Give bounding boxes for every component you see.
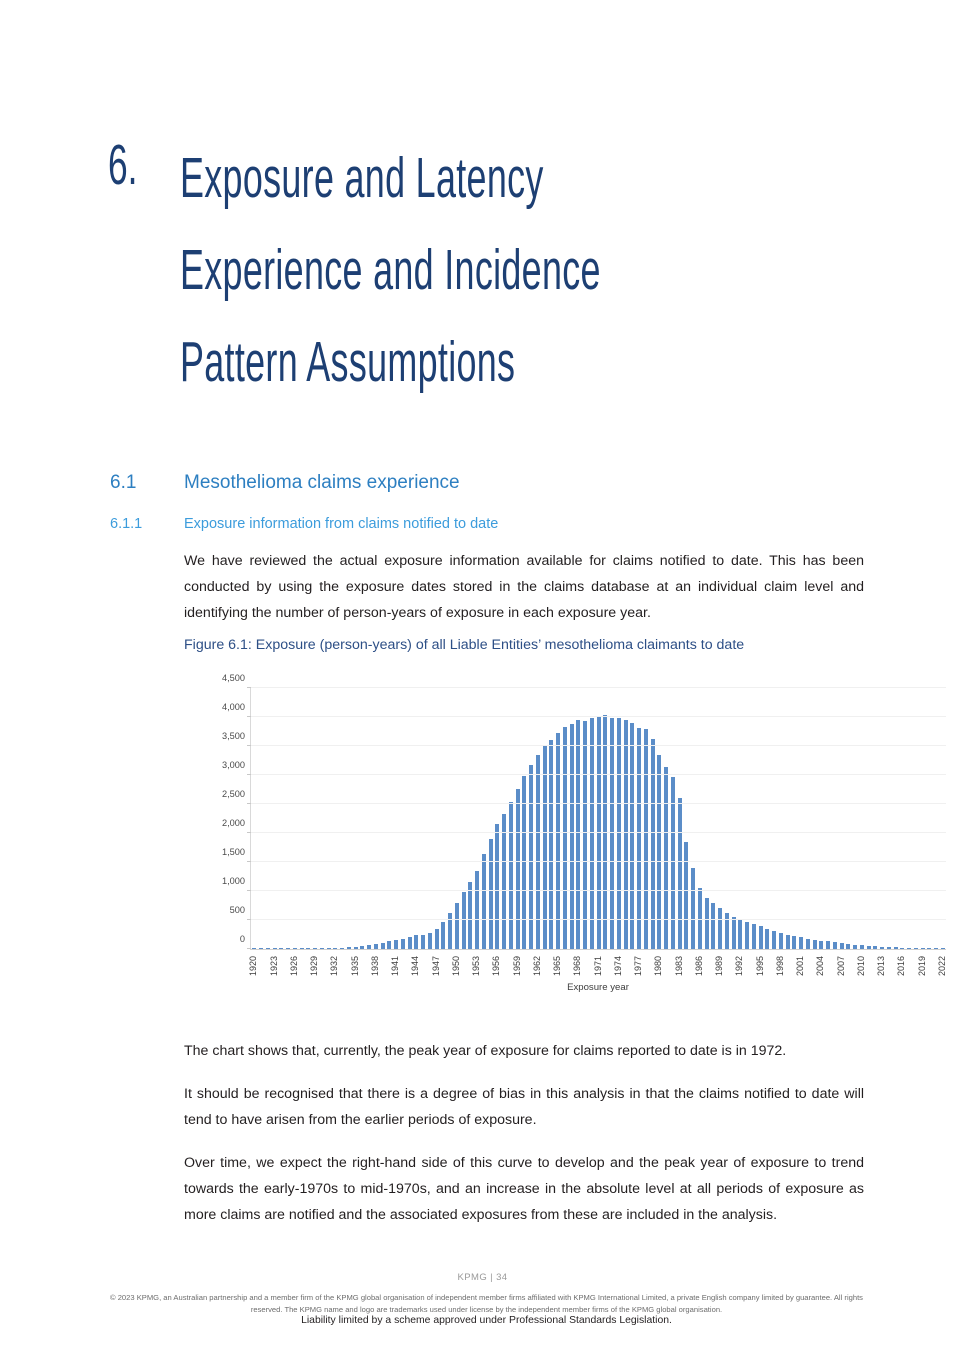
chart-y-tick-label: 2,000 — [222, 818, 245, 828]
chart-bar — [529, 765, 533, 949]
chart-bar-cell — [541, 688, 548, 949]
chart-bar-cell — [292, 688, 299, 949]
chart-y-tick-label: 0 — [240, 934, 245, 944]
chart-bar-cell — [778, 688, 785, 949]
chart-y-tick-label: 3,500 — [222, 731, 245, 741]
chart-bar-cell — [427, 688, 434, 949]
chart-bar-cell — [663, 688, 670, 949]
chart-bar-cell — [865, 688, 872, 949]
chart-bar-cell — [852, 688, 859, 949]
chart-bar — [718, 908, 722, 949]
post-chart-paragraphs: The chart shows that, currently, the pea… — [184, 1038, 864, 1228]
chart-y-tick-mark — [247, 774, 251, 775]
chart-bar-cell — [643, 688, 650, 949]
chart-y-tick-mark — [247, 890, 251, 891]
chart-bar — [752, 924, 756, 949]
chart-bar — [549, 740, 553, 949]
chart-bar-cell — [474, 688, 481, 949]
chart-y-tick-mark — [247, 803, 251, 804]
chart-bar-cell — [859, 688, 866, 949]
chart-y-tick-mark — [247, 861, 251, 862]
chart-bar-cell — [514, 688, 521, 949]
intro-paragraph-block: We have reviewed the actual exposure inf… — [184, 548, 864, 643]
chart-bar-cell — [366, 688, 373, 949]
chart-bar-cell — [528, 688, 535, 949]
chart-bar-cell — [676, 688, 683, 949]
chart-bar-cell — [913, 688, 920, 949]
chart-bar-cell — [649, 688, 656, 949]
chart-bar — [745, 922, 749, 949]
chart-bar-cell — [298, 688, 305, 949]
chart-bar — [583, 721, 587, 949]
chart-bar-cell — [832, 688, 839, 949]
chart-bar — [516, 789, 520, 949]
chart-bar-cell — [386, 688, 393, 949]
chart-gridline — [251, 890, 946, 891]
chart-bar-cell — [670, 688, 677, 949]
chart-y-tick-label: 500 — [230, 905, 245, 915]
chart-bar-cell — [325, 688, 332, 949]
chart-bar-cell — [575, 688, 582, 949]
chart-bar-cell — [791, 688, 798, 949]
chart-bar — [786, 935, 790, 950]
chart-y-tick-label: 2,500 — [222, 789, 245, 799]
chart-bar — [624, 720, 628, 949]
chart-bar-cell — [602, 688, 609, 949]
chart-y-tick-mark — [247, 716, 251, 717]
chart-bar-cell — [690, 688, 697, 949]
chart-bar — [637, 728, 641, 949]
chart-bar-cell — [568, 688, 575, 949]
chart-bar-cell — [285, 688, 292, 949]
exposure-bar-chart: 05001,0001,5002,0002,5003,0003,5004,0004… — [196, 682, 956, 1002]
chart-bar — [455, 903, 459, 949]
chart-bar-cell — [379, 688, 386, 949]
chart-bar-cell — [879, 688, 886, 949]
chart-y-tick-label: 1,000 — [222, 876, 245, 886]
chart-bar — [563, 727, 567, 949]
chart-bar-cell — [460, 688, 467, 949]
chart-bar-cell — [555, 688, 562, 949]
chart-bar-cell — [521, 688, 528, 949]
chart-bar-cell — [420, 688, 427, 949]
chart-bar-cell — [636, 688, 643, 949]
chart-bar-cell — [926, 688, 933, 949]
chart-bar — [462, 892, 466, 949]
chart-bar — [678, 798, 682, 949]
chart-bar-cell — [332, 688, 339, 949]
paragraph-outlook: Over time, we expect the right-hand side… — [184, 1150, 864, 1228]
chart-bar-cell — [319, 688, 326, 949]
chapter-title-line-1: Exposure and Latency — [180, 132, 601, 224]
chart-bar-cell — [278, 688, 285, 949]
chart-x-tick-label: 2022 — [937, 956, 947, 976]
chart-y-tick-label: 3,000 — [222, 760, 245, 770]
chart-bar-cell — [447, 688, 454, 949]
figure-caption: Figure 6.1: Exposure (person-years) of a… — [184, 634, 874, 656]
chart-bar-cell — [312, 688, 319, 949]
chart-bar-cell — [481, 688, 488, 949]
chart-bar — [495, 824, 499, 949]
chart-bar — [759, 926, 763, 949]
chart-bar-cell — [710, 688, 717, 949]
section-heading-6-1: 6.1 Mesothelioma claims experience — [110, 472, 870, 494]
chart-gridline — [251, 861, 946, 862]
chart-bar-cell — [265, 688, 272, 949]
chart-bar-cell — [751, 688, 758, 949]
chart-bar-cell — [940, 688, 947, 949]
chart-bar-cell — [838, 688, 845, 949]
chart-plot-area: 05001,0001,5002,0002,5003,0003,5004,0004… — [250, 688, 946, 950]
chart-bar-cell — [629, 688, 636, 949]
chart-bar-cell — [784, 688, 791, 949]
chart-gridline — [251, 774, 946, 775]
chart-bar-cell — [771, 688, 778, 949]
chart-bar — [779, 933, 783, 949]
chart-gridline — [251, 687, 946, 688]
chart-bar — [610, 718, 614, 949]
chart-bar — [597, 717, 601, 949]
chart-y-tick-mark — [247, 948, 251, 949]
chart-bar — [414, 935, 418, 949]
chart-gridline — [251, 948, 946, 949]
chart-bar — [772, 931, 776, 949]
chart-bar — [684, 842, 688, 949]
chart-bar-cell — [352, 688, 359, 949]
chart-bar-cell — [339, 688, 346, 949]
footer-legal-text: © 2023 KPMG, an Australian partnership a… — [108, 1292, 865, 1315]
subsection-heading-6-1-1: 6.1.1 Exposure information from claims n… — [110, 516, 870, 532]
chart-bar-cell — [717, 688, 724, 949]
chart-bar — [651, 739, 655, 949]
chart-bar — [705, 898, 709, 949]
chart-bars — [251, 688, 946, 949]
chart-bar-cell — [305, 688, 312, 949]
chart-bar-cell — [359, 688, 366, 949]
chart-y-tick-label: 4,500 — [222, 673, 245, 683]
chart-bar-cell — [798, 688, 805, 949]
chart-bar-cell — [886, 688, 893, 949]
chart-bar-cell — [494, 688, 501, 949]
chart-y-tick-mark — [247, 832, 251, 833]
chapter-heading: 6. Exposure and Latency Experience and I… — [108, 132, 848, 408]
chart-gridline — [251, 745, 946, 746]
chart-bar — [489, 839, 493, 949]
chart-bar-cell — [433, 688, 440, 949]
chart-bar-cell — [933, 688, 940, 949]
chapter-title-line-2: Experience and Incidence — [180, 224, 601, 316]
chart-bar — [630, 723, 634, 949]
paragraph-intro: We have reviewed the actual exposure inf… — [184, 548, 864, 626]
chart-bar — [435, 929, 439, 949]
chart-bar-cell — [616, 688, 623, 949]
chart-bar-cell — [406, 688, 413, 949]
chart-bar — [576, 720, 580, 949]
chart-bar-cell — [589, 688, 596, 949]
chart-bar-cell — [413, 688, 420, 949]
chart-bar-cell — [454, 688, 461, 949]
chart-y-tick-label: 1,500 — [222, 847, 245, 857]
chart-bar — [421, 935, 425, 950]
chart-bar — [468, 882, 472, 949]
chart-bar-cell — [744, 688, 751, 949]
chart-bar-cell — [683, 688, 690, 949]
chart-bar-cell — [501, 688, 508, 949]
chart-bar-cell — [724, 688, 731, 949]
chart-bar — [509, 802, 513, 949]
chart-bar — [556, 733, 560, 949]
chart-bar-cell — [440, 688, 447, 949]
chart-bar — [664, 767, 668, 949]
chart-bar-cell — [656, 688, 663, 949]
chart-bar-cell — [609, 688, 616, 949]
chart-bar-cell — [737, 688, 744, 949]
chart-bar-cell — [697, 688, 704, 949]
footer-liability-text: Liability limited by a scheme approved u… — [108, 1315, 865, 1326]
chart-bar — [765, 929, 769, 949]
chart-bar-cell — [487, 688, 494, 949]
chart-x-axis-title: Exposure year — [250, 982, 946, 993]
chart-bar-cell — [872, 688, 879, 949]
chart-bar-cell — [251, 688, 258, 949]
chart-bar-cell — [845, 688, 852, 949]
chart-bar — [732, 917, 736, 949]
chart-bar-cell — [764, 688, 771, 949]
subsection-title: Exposure information from claims notifie… — [184, 516, 498, 532]
chart-bar-cell — [730, 688, 737, 949]
chart-bar-cell — [919, 688, 926, 949]
chart-bar — [482, 854, 486, 949]
chart-bar-cell — [906, 688, 913, 949]
chart-bar-cell — [825, 688, 832, 949]
chart-bar — [475, 871, 479, 949]
chart-bar — [428, 933, 432, 949]
chart-bar — [738, 919, 742, 949]
chart-bar — [502, 814, 506, 949]
paragraph-peak: The chart shows that, currently, the pea… — [184, 1038, 864, 1064]
chart-bar-cell — [467, 688, 474, 949]
chart-bar-cell — [535, 688, 542, 949]
chart-bar-cell — [818, 688, 825, 949]
chart-bar — [590, 718, 594, 949]
chart-bar-cell — [622, 688, 629, 949]
chart-bar-cell — [805, 688, 812, 949]
document-page: 6. Exposure and Latency Experience and I… — [0, 0, 965, 1365]
chapter-title-line-3: Pattern Assumptions — [180, 316, 601, 408]
paragraph-bias: It should be recognised that there is a … — [184, 1081, 864, 1133]
chart-bar — [441, 922, 445, 949]
chart-bar-cell — [811, 688, 818, 949]
chapter-title: Exposure and Latency Experience and Inci… — [180, 132, 601, 408]
chart-y-tick-mark — [247, 919, 251, 920]
chart-gridline — [251, 832, 946, 833]
chart-bar-cell — [346, 688, 353, 949]
chart-y-tick-mark — [247, 745, 251, 746]
chart-bar-cell — [899, 688, 906, 949]
chapter-number: 6. — [108, 132, 153, 198]
chart-gridline — [251, 919, 946, 920]
chart-bar-cell — [562, 688, 569, 949]
chart-bar-cell — [271, 688, 278, 949]
chart-y-tick-mark — [247, 687, 251, 688]
chart-bar-cell — [892, 688, 899, 949]
subsection-number: 6.1.1 — [110, 516, 184, 532]
chart-bar — [570, 724, 574, 949]
chart-bar-cell — [393, 688, 400, 949]
chart-bar-cell — [508, 688, 515, 949]
chart-y-tick-label: 4,000 — [222, 702, 245, 712]
chart-bar-cell — [757, 688, 764, 949]
section-number: 6.1 — [110, 472, 184, 494]
chart-bar — [691, 868, 695, 949]
chart-bar-cell — [582, 688, 589, 949]
chart-bar — [711, 903, 715, 949]
chart-bar-cell — [703, 688, 710, 949]
chart-bar-cell — [595, 688, 602, 949]
chart-bar-cell — [373, 688, 380, 949]
chart-bar-cell — [258, 688, 265, 949]
footer-page-marker: KPMG | 34 — [0, 1272, 965, 1283]
chart-bar-cell — [548, 688, 555, 949]
chart-bar-cell — [400, 688, 407, 949]
section-title: Mesothelioma claims experience — [184, 472, 460, 494]
chart-gridline — [251, 803, 946, 804]
chart-bar — [644, 729, 648, 949]
chart-gridline — [251, 716, 946, 717]
chart-bar — [617, 718, 621, 949]
